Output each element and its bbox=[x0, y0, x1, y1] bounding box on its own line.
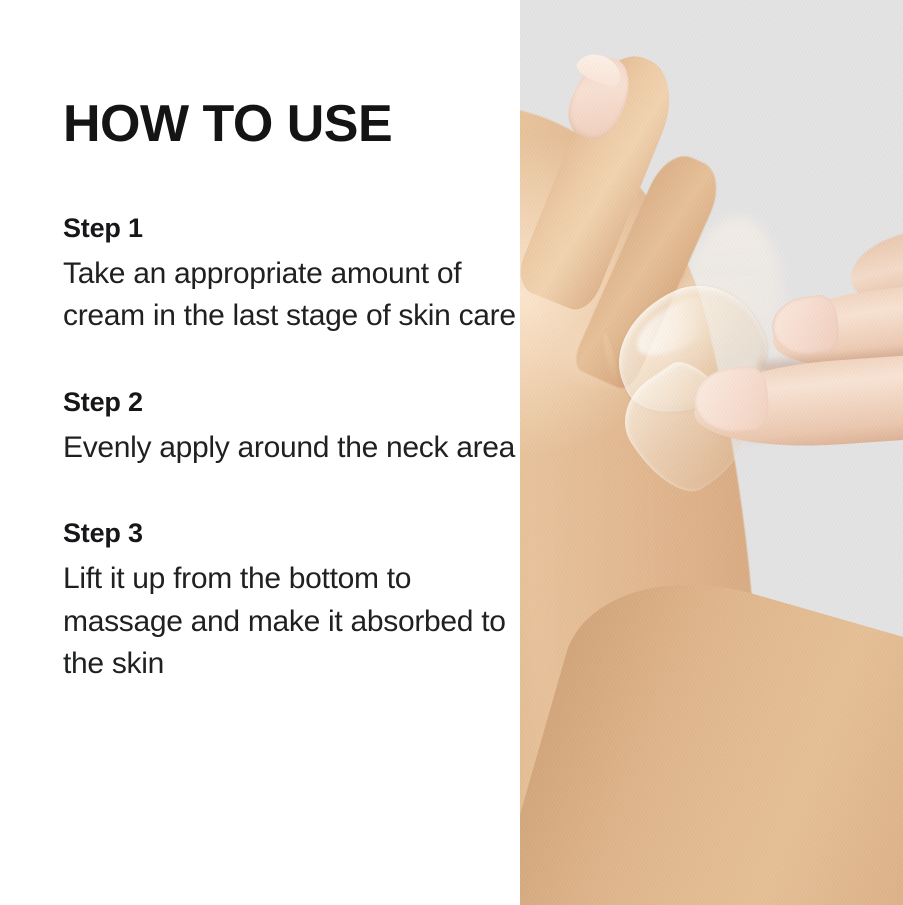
how-to-use-page: HOW TO USE Step 1 Take an appropriate am… bbox=[0, 0, 903, 905]
step-1-body: Take an appropriate amount of cream in t… bbox=[63, 253, 520, 338]
step-block-2: Step 2 Evenly apply around the neck area bbox=[63, 386, 520, 469]
step-block-3: Step 3 Lift it up from the bottom to mas… bbox=[63, 517, 520, 686]
page-title: HOW TO USE bbox=[63, 98, 520, 150]
step-3-body: Lift it up from the bottom to massage an… bbox=[63, 558, 520, 686]
step-block-1: Step 1 Take an appropriate amount of cre… bbox=[63, 212, 520, 338]
step-1-heading: Step 1 bbox=[63, 212, 520, 246]
product-photo-panel bbox=[520, 0, 903, 905]
step-2-body: Evenly apply around the neck area bbox=[63, 427, 520, 470]
instructions-panel: HOW TO USE Step 1 Take an appropriate am… bbox=[0, 0, 520, 905]
step-2-heading: Step 2 bbox=[63, 386, 520, 420]
hand-cream-photo bbox=[520, 0, 903, 905]
step-3-heading: Step 3 bbox=[63, 517, 520, 551]
